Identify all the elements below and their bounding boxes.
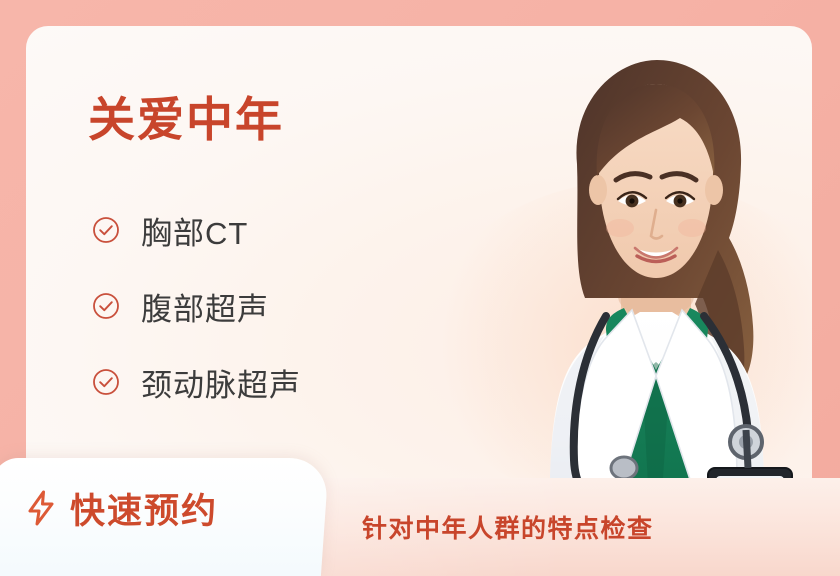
list-item: 腹部超声 [92, 268, 301, 344]
quick-booking-button-content: 快速预约 [0, 458, 325, 576]
list-item-label: 颈动脉超声 [141, 360, 301, 405]
page-title: 关爱中年 [88, 96, 284, 143]
lightning-bolt-icon [26, 490, 56, 526]
quick-booking-button[interactable]: 快速预约 [0, 458, 329, 576]
health-package-poster: 关爱中年 胸部CT 腹部超声 [0, 0, 840, 576]
tagline-text: 针对中年人群的特点检查 [362, 509, 654, 545]
list-item: 颈动脉超声 [92, 344, 301, 420]
check-circle-icon [92, 292, 120, 320]
bottom-action-bar: 针对中年人群的特点检查 快速预约 [0, 478, 840, 576]
list-item-label: 胸部CT [141, 208, 248, 253]
doctor-photo [446, 44, 812, 522]
check-circle-icon [92, 368, 120, 396]
list-item-label: 腹部超声 [141, 284, 269, 329]
list-item: 胸部CT [92, 192, 301, 268]
quick-booking-button-label: 快速预约 [70, 483, 218, 534]
feature-list: 胸部CT 腹部超声 颈动脉超声 [92, 192, 301, 420]
check-circle-icon [92, 216, 120, 244]
